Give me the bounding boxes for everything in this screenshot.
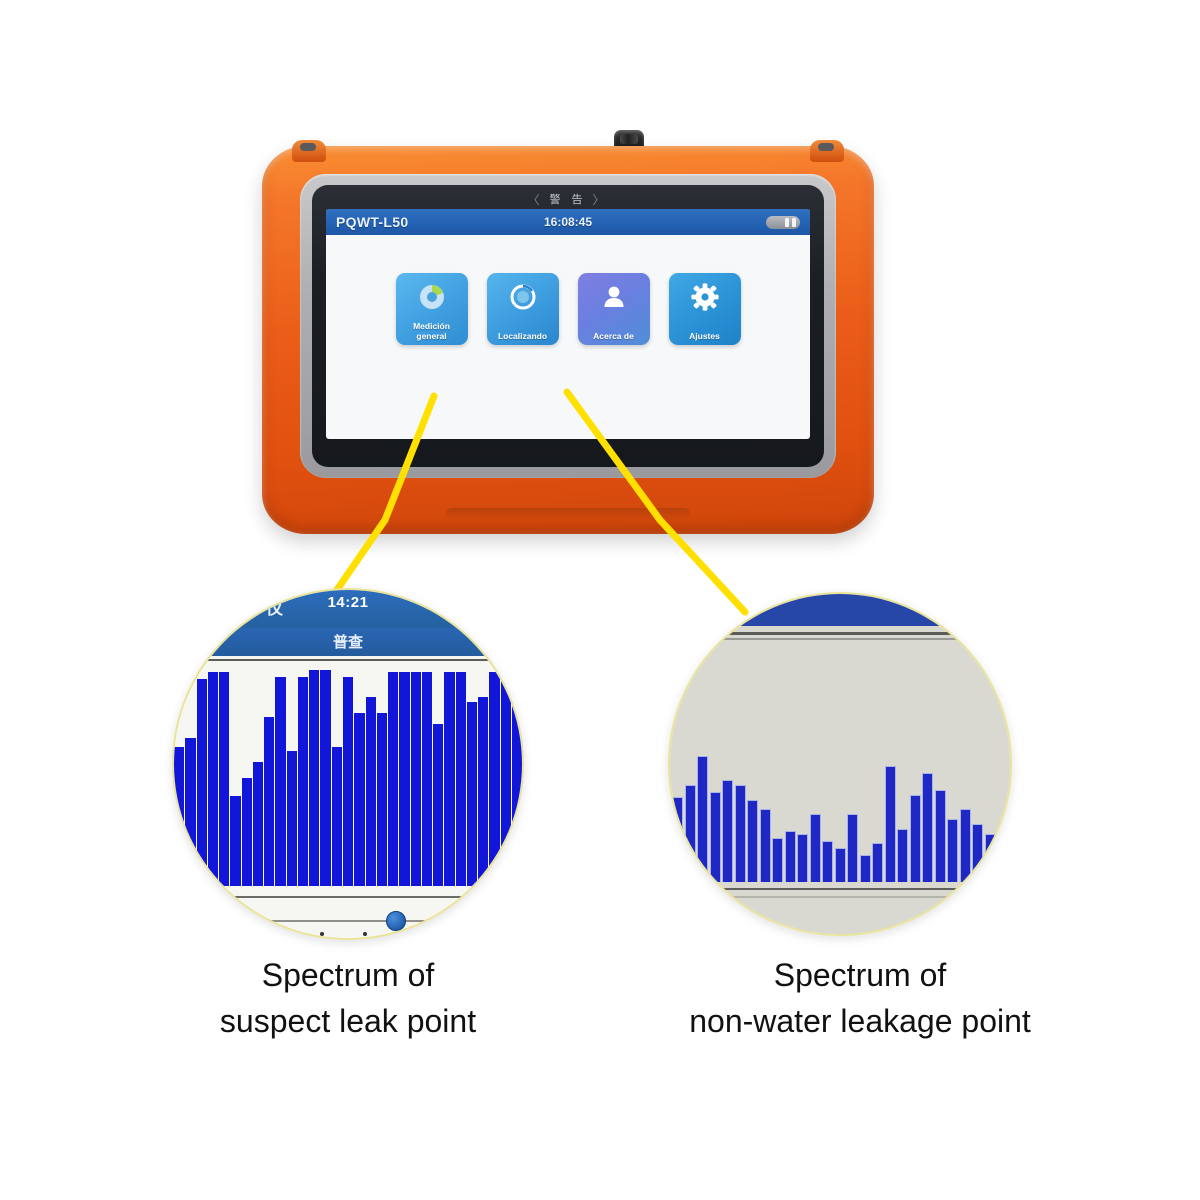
spectrum-bar [797,834,808,882]
status-clock: 16:08:45 [326,215,810,229]
callout-left-statusbar: 仪 14:21 [174,590,522,628]
chevron-right-icon: 〉 [587,191,615,208]
battery-icon [766,216,800,229]
spectrum-bar [872,843,883,882]
spectrum-bar [287,751,297,886]
app-ajustes[interactable]: Ajustes [669,273,741,345]
spectrum-chart-non-water-leak [670,640,1010,882]
spectrum-bar [242,778,252,886]
spectrum-bar [885,766,896,882]
spectrum-bar [512,706,522,886]
gain-slider-knob[interactable] [386,911,406,931]
spectrum-bar [947,819,958,882]
app-grid: Medición general [326,273,810,353]
spectrum-bar [478,697,488,886]
spectrum-bar [760,809,771,882]
spectrum-bar [922,773,933,882]
spectrum-bar [985,834,996,882]
spectrum-bar [253,762,263,886]
chevron-left-icon: 〈 [521,191,549,208]
spectrum-bar [835,848,846,882]
frame-warning-label: 〈 警 告 〉 [312,189,824,209]
gain-slider-track[interactable] [174,920,522,922]
spectrum-bar [935,790,946,882]
spectrum-bar [264,717,274,886]
infographic-canvas: 〈 警 告 〉 PQWT-L50 16:08:45 [0,0,1200,1200]
app-label: Ajustes [671,332,739,342]
spectrum-bar [685,785,696,882]
spectrum-bar [343,677,353,886]
strap-clip-right [810,140,844,162]
spectrum-bar [433,724,443,886]
caption-right-line2: non-water leakage point [689,1003,1031,1039]
pqwt-l50-device: 〈 警 告 〉 PQWT-L50 16:08:45 [262,146,874,534]
spectrum-bar [366,697,376,886]
magnifier-circle-non-water-leak [668,592,1012,936]
spectrum-bar [722,780,733,882]
device-bezel: 〈 警 告 〉 PQWT-L50 16:08:45 [300,174,836,478]
spectrum-bar [910,795,921,882]
callout-right-axis-rule [670,632,1010,635]
callout-right-divider [670,888,1010,890]
device-screen: PQWT-L50 16:08:45 [326,209,810,439]
spectrum-bar [388,672,398,886]
callout-right-statusbar [670,594,1010,626]
spectrum-bar [411,672,421,886]
radar-ring-icon [508,280,538,314]
spectrum-bar [822,841,833,882]
spectrum-bar [275,677,285,886]
spectrum-bar [997,838,1008,882]
callout-left-modebar: 普查 [174,628,522,656]
spectrum-bar [860,855,871,882]
spectrum-bar [501,672,511,886]
screen-frame: 〈 警 告 〉 PQWT-L50 16:08:45 [312,185,824,467]
pie-chart-icon [417,280,447,314]
spectrum-bar [847,814,858,882]
spectrum-bar [320,670,330,886]
user-person-icon [599,280,629,314]
slider-tick [363,932,367,936]
spectrum-bar [298,677,308,886]
caption-right-line1: Spectrum of [774,957,947,993]
callout-right-divider-secondary [670,896,1010,898]
spectrum-bar [208,672,218,886]
status-bar: PQWT-L50 16:08:45 [326,209,810,235]
app-acerca-de[interactable]: Acerca de [578,273,650,345]
callout-left-mode-label: 普查 [174,631,522,652]
spectrum-bar [785,831,796,882]
spectrum-bar [444,672,454,886]
caption-non-water-leak: Spectrum of non-water leakage point [640,952,1080,1044]
app-label: Localizando [489,332,557,342]
spectrum-bar [422,672,432,886]
spectrum-bar [747,800,758,882]
spectrum-bar [735,785,746,882]
spectrum-bar [672,797,683,882]
slider-tick [320,932,324,936]
app-label: Acerca de [580,332,648,342]
spectrum-bar [772,838,783,882]
spectrum-chart-suspect-leak [174,661,522,886]
spectrum-bar [197,679,207,886]
app-localizando[interactable]: Localizando [487,273,559,345]
callout-left-clock: 14:21 [174,594,522,611]
magnifier-circle-suspect-leak: 仪 14:21 普查 [172,588,524,940]
frame-warning-text: 警 告 [549,191,586,207]
spectrum-bar [377,713,387,886]
spectrum-bar [230,796,240,886]
spectrum-bar [897,829,908,882]
spectrum-bar [456,672,466,886]
spectrum-bar [972,824,983,882]
caption-suspect-leak: Spectrum of suspect leak point [148,952,548,1044]
callout-left-divider [174,896,522,898]
caption-left-line2: suspect leak point [220,1003,476,1039]
spectrum-bar [185,738,195,887]
strap-clip-left [292,140,326,162]
spectrum-bar [174,747,184,887]
callout-left-controls [174,886,522,938]
gear-icon [690,280,720,314]
spectrum-bar [710,792,721,882]
caption-left-line1: Spectrum of [262,957,435,993]
spectrum-bar [332,747,342,887]
slider-tick [274,932,278,936]
spectrum-bar [810,814,821,882]
spectrum-bar [467,702,477,887]
spectrum-bar [309,670,319,886]
spectrum-bar [219,672,229,886]
spectrum-bar [489,672,499,886]
app-medicion-general[interactable]: Medición general [396,273,468,345]
callout-right-footer [670,882,1010,934]
spectrum-bar [354,713,364,886]
spectrum-bar [960,809,971,882]
spectrum-bar [399,672,409,886]
app-label: Medición general [398,322,466,341]
spectrum-bar [697,756,708,882]
